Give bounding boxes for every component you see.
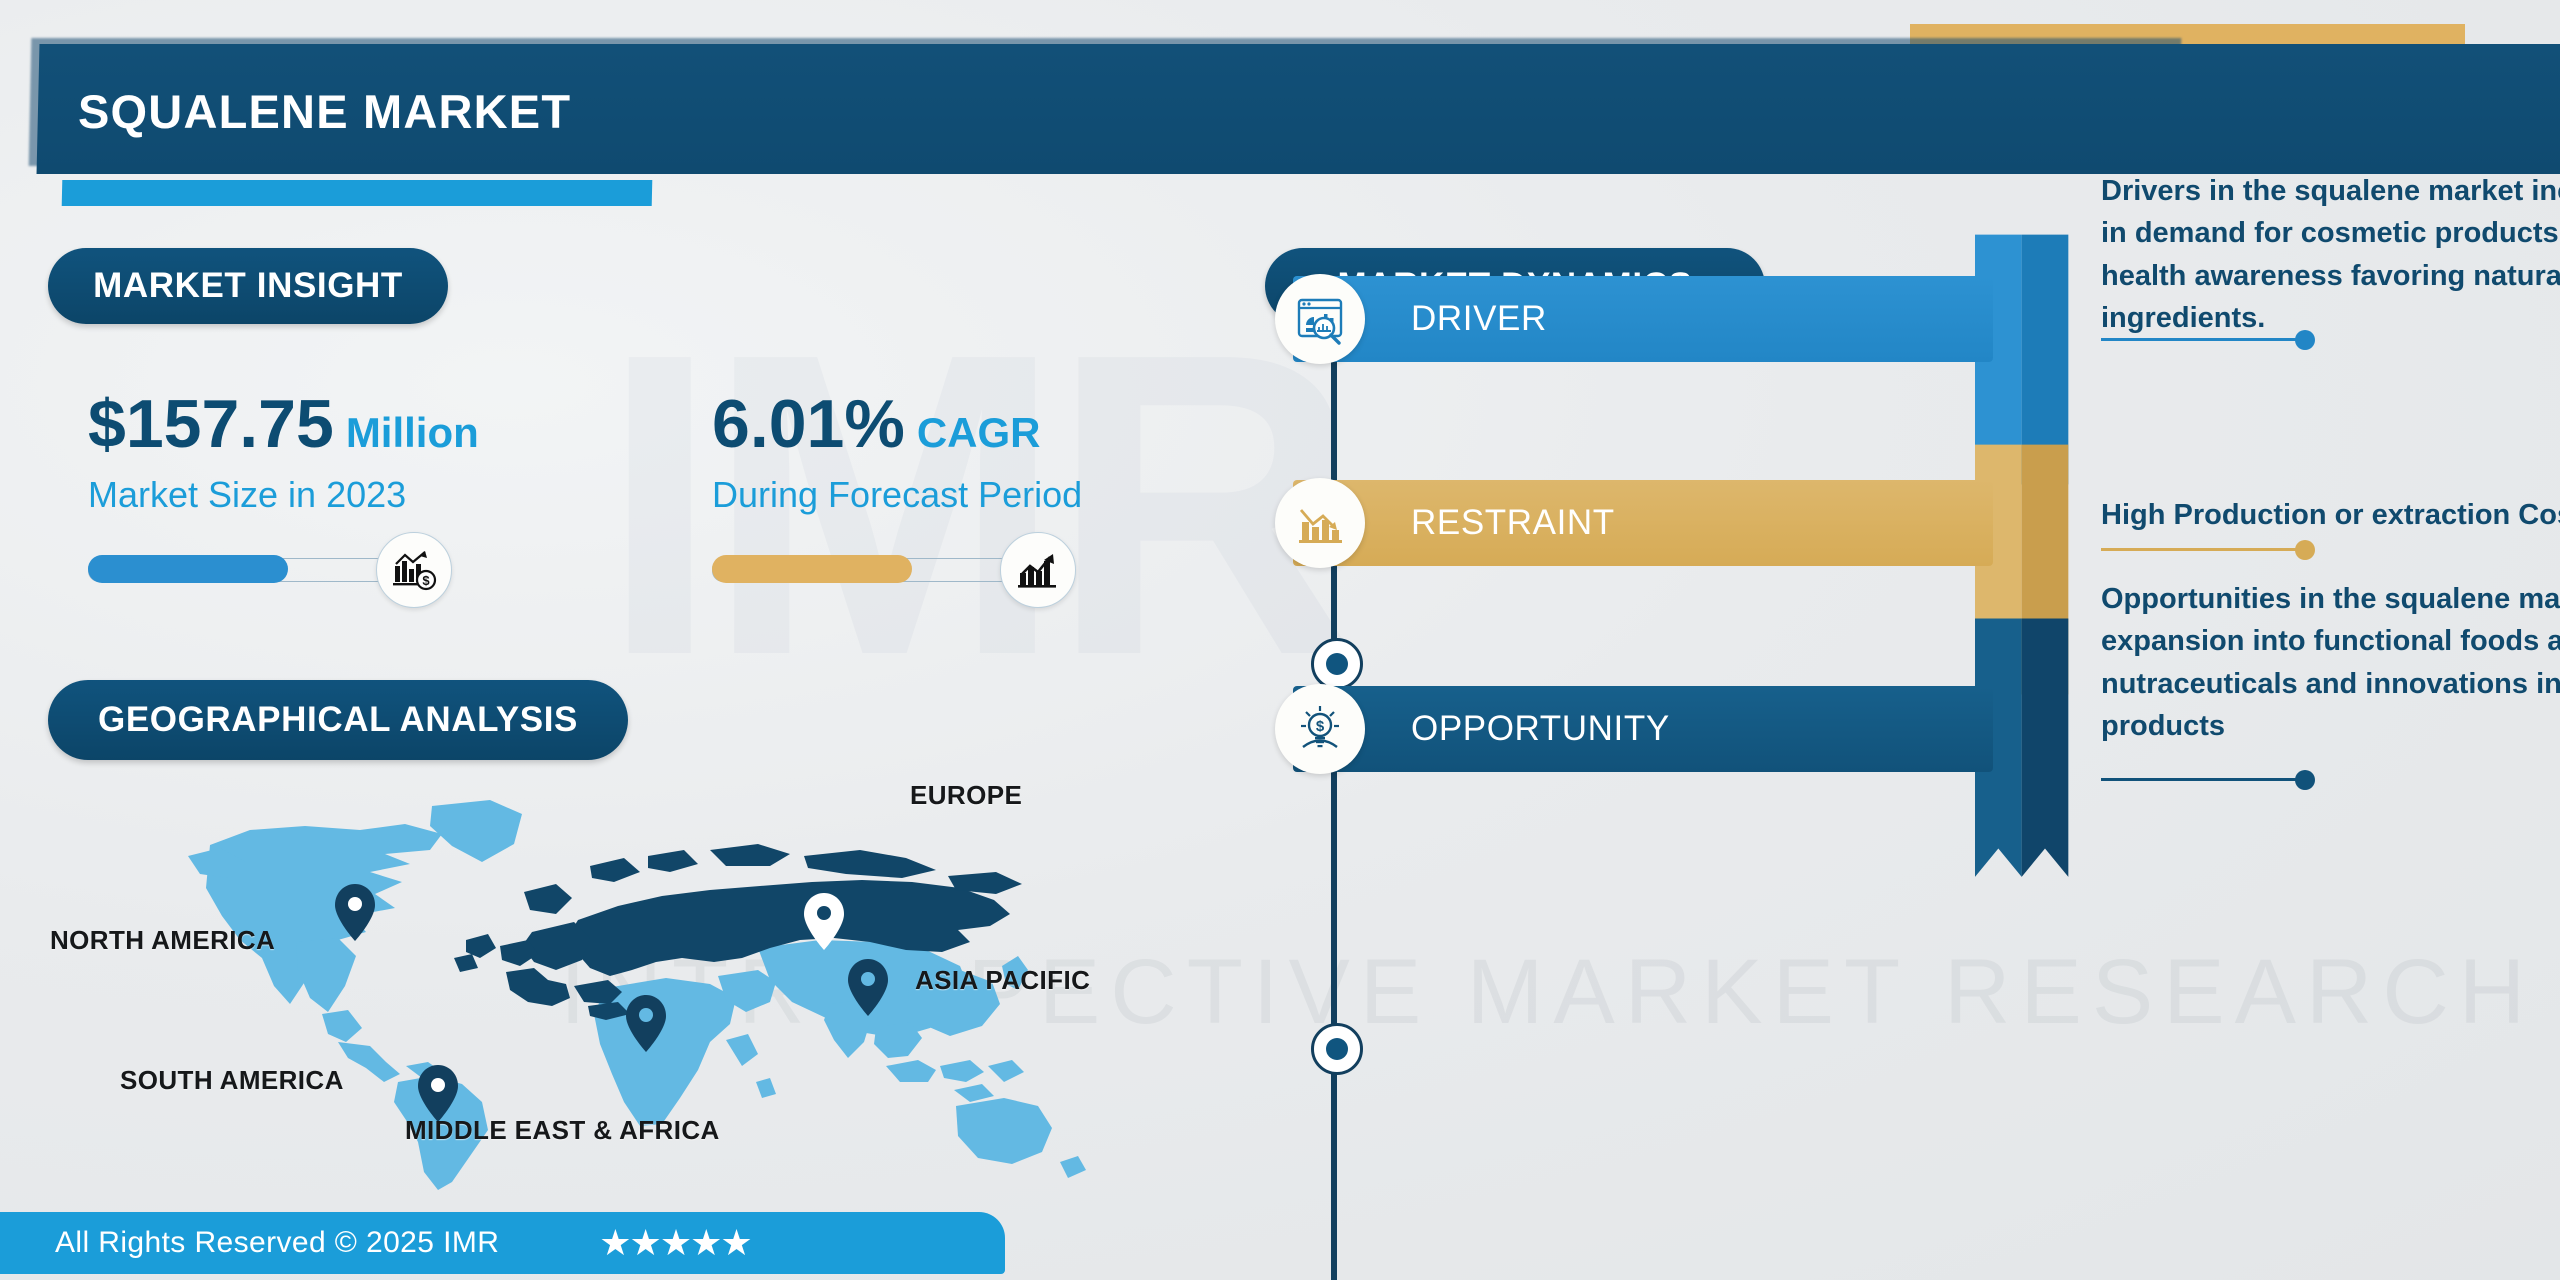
restraint-dot [2295, 540, 2315, 560]
page-title: SQUALENE MARKET [78, 84, 571, 139]
kpi-market-size-caption: Market Size in 2023 [88, 474, 479, 516]
restraint-underline [2101, 548, 2311, 551]
restraint-text: High Production or extraction Cost [2101, 494, 2560, 536]
copyright-text: All Rights Reserved © 2025 IMR [55, 1226, 499, 1260]
map-label-north-america: NORTH AMERICA [50, 925, 275, 956]
map-label-middle-east-africa: MIDDLE EAST & AFRICA [405, 1115, 720, 1146]
footer-bar: All Rights Reserved © 2025 IMR ★★★★★ [0, 1212, 1005, 1274]
map-label-europe: EUROPE [910, 780, 1022, 811]
market-dynamics-timeline: DRIVER [1265, 248, 2535, 1278]
kpi-cagr-unit: CAGR [917, 409, 1041, 457]
svg-text:$: $ [422, 573, 430, 588]
driver-dot [2295, 330, 2315, 350]
timeline-spine [1331, 324, 1337, 1280]
kpi-market-size: $157.75 Million Market Size in 2023 $ [88, 390, 479, 590]
header-bar-extension [2090, 44, 2560, 174]
kpi-cagr-progress [712, 548, 1102, 590]
map-label-south-america: SOUTH AMERICA [120, 1065, 344, 1096]
opportunity-underline [2101, 778, 2311, 781]
declining-bar-chart-icon [1275, 478, 1365, 568]
lightbulb-dollar-icon: $ [1275, 684, 1365, 774]
header-underline-accent [62, 180, 653, 206]
opportunity-bar: OPPORTUNITY $ [1293, 686, 1993, 772]
growth-chart-arrow-icon [1000, 532, 1076, 608]
kpi-cagr: 6.01% CAGR During Forecast Period [712, 390, 1102, 590]
rating-stars-icon: ★★★★★ [599, 1222, 750, 1264]
bar-chart-dollar-icon: $ [376, 532, 452, 608]
kpi-market-size-progress: $ [88, 548, 478, 590]
map-label-asia-pacific: ASIA PACIFIC [915, 965, 1090, 996]
driver-bar: DRIVER [1293, 276, 1993, 362]
opportunity-dot [2295, 770, 2315, 790]
svg-text:$: $ [1316, 718, 1325, 735]
progress-fill [712, 555, 912, 583]
market-insight-label: MARKET INSIGHT [93, 266, 403, 306]
timeline-node-1 [1311, 638, 1363, 690]
world-map: NORTH AMERICA SOUTH AMERICA MIDDLE EAST … [170, 790, 1170, 1220]
driver-text: Drivers in the squalene market include a… [2101, 170, 2560, 339]
kpi-cagr-value: 6.01% [712, 390, 905, 458]
kpi-cagr-caption: During Forecast Period [712, 474, 1102, 516]
opportunity-text: Opportunities in the squalene market inc… [2101, 578, 2560, 747]
section-heading-geographical-analysis: GEOGRAPHICAL ANALYSIS [48, 680, 628, 760]
restraint-bar: RESTRAINT [1293, 480, 1993, 566]
infographic-canvas: IMR INTROSPECTIVE MARKET RESEARCH SQUALE… [0, 0, 2560, 1280]
restraint-label: RESTRAINT [1411, 503, 1615, 543]
progress-fill [88, 555, 288, 583]
driver-label: DRIVER [1411, 299, 1547, 339]
driver-underline [2101, 338, 2311, 341]
report-magnifier-icon [1275, 274, 1365, 364]
geographical-analysis-label: GEOGRAPHICAL ANALYSIS [98, 700, 578, 740]
timeline-node-2 [1311, 1023, 1363, 1075]
kpi-market-size-value: $157.75 [88, 390, 334, 458]
kpi-market-size-unit: Million [346, 409, 479, 457]
opportunity-label: OPPORTUNITY [1411, 709, 1670, 749]
section-heading-market-insight: MARKET INSIGHT [48, 248, 448, 324]
